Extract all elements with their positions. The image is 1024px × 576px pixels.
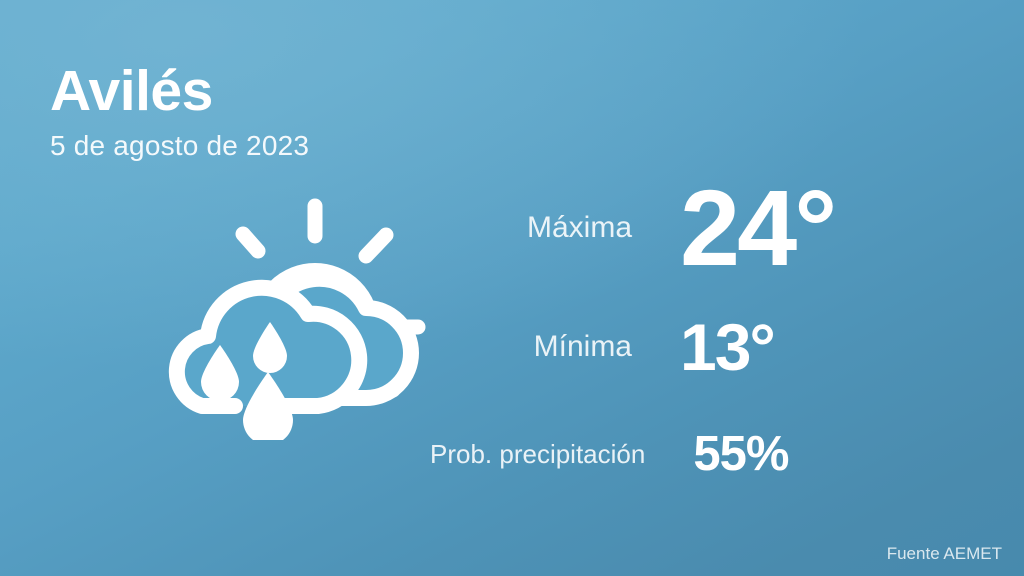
maxima-label: Máxima (430, 211, 680, 245)
maxima-value: 24° (680, 174, 970, 282)
metric-row-precipitacion: Prob. precipitación 55% (430, 406, 970, 502)
weather-card: Avilés 5 de agosto de 2023 (0, 0, 1024, 576)
weather-icon (150, 190, 430, 440)
metric-row-maxima: Máxima 24° (430, 168, 970, 288)
source-attribution: Fuente AEMET (887, 544, 1002, 564)
metrics-panel: Máxima 24° Mínima 13° Prob. precipitació… (430, 168, 970, 502)
sun-ray-upper-right (366, 235, 386, 256)
header: Avilés 5 de agosto de 2023 (50, 62, 309, 162)
precipitacion-label: Prob. precipitación (430, 439, 693, 470)
minima-label: Mínima (430, 330, 680, 364)
sun-behind-rain-cloud-icon (150, 190, 430, 440)
precipitacion-value: 55% (693, 430, 970, 479)
date-label: 5 de agosto de 2023 (50, 130, 309, 162)
metric-row-minima: Mínima 13° (430, 288, 970, 406)
sun-ray-upper-left (243, 234, 258, 251)
minima-value: 13° (680, 314, 970, 380)
page-title: Avilés (50, 62, 309, 122)
